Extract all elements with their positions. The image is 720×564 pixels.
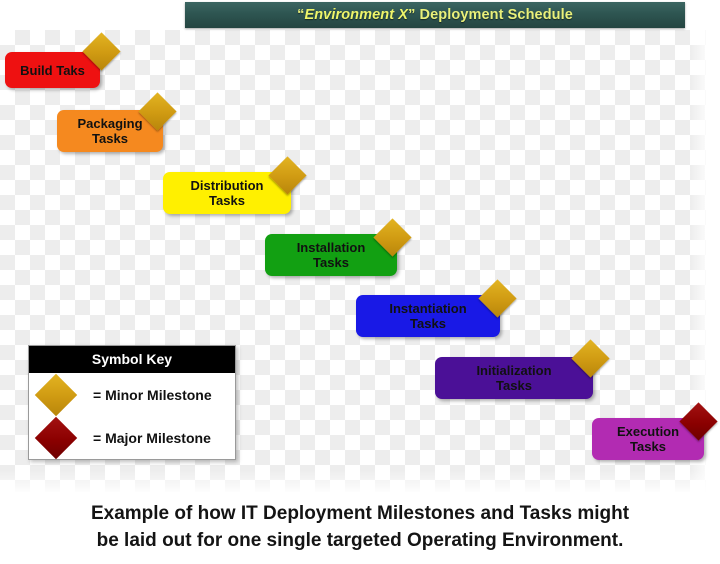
chart-title-text: “Environment X” Deployment Schedule xyxy=(297,7,573,23)
task-bar-label-second-line: Tasks xyxy=(496,378,532,393)
task-bar-label-second-line: Tasks xyxy=(92,131,128,146)
task-bar[interactable]: InstantiationTasks xyxy=(356,295,500,337)
task-bar-label-second-line: Tasks xyxy=(410,316,446,331)
deployment-schedule-figure: “Environment X” Deployment Schedule Buil… xyxy=(0,0,720,564)
task-bar-label: Build Taks xyxy=(20,63,85,78)
task-bar-label-second-line: Tasks xyxy=(630,439,666,454)
task-bar-label: Instantiation xyxy=(389,301,466,316)
legend-rows: = Minor Milestone= Major Milestone xyxy=(29,373,235,459)
task-bar-label: Packaging xyxy=(77,116,142,131)
major-milestone-diamond-icon xyxy=(35,416,77,458)
chart-title-emphasis: Environment X xyxy=(304,7,408,23)
symbol-key-legend: Symbol Key = Minor Milestone= Major Mile… xyxy=(28,345,236,460)
legend-label: = Major Milestone xyxy=(93,430,211,446)
legend-label: = Minor Milestone xyxy=(93,387,212,403)
caption-line-2: be laid out for one single targeted Oper… xyxy=(0,527,720,554)
task-bar[interactable]: InitializationTasks xyxy=(435,357,593,399)
legend-row: = Major Milestone xyxy=(29,416,235,459)
figure-caption: Example of how IT Deployment Milestones … xyxy=(0,500,720,554)
task-bar-label: Initialization xyxy=(476,363,551,378)
legend-title: Symbol Key xyxy=(29,346,235,373)
task-bar-label-second-line: Tasks xyxy=(209,193,245,208)
background-fade-bottom xyxy=(0,470,720,500)
minor-milestone-diamond-icon xyxy=(35,373,77,415)
chart-title-banner: “Environment X” Deployment Schedule xyxy=(185,2,685,28)
task-bar[interactable]: Build Taks xyxy=(5,52,100,88)
task-bar-label: Installation xyxy=(297,240,366,255)
caption-line-1: Example of how IT Deployment Milestones … xyxy=(0,500,720,527)
task-bar-label: Distribution xyxy=(191,178,264,193)
task-bar-label: Execution xyxy=(617,424,679,439)
task-bar-label-second-line: Tasks xyxy=(313,255,349,270)
legend-row: = Minor Milestone xyxy=(29,373,235,416)
